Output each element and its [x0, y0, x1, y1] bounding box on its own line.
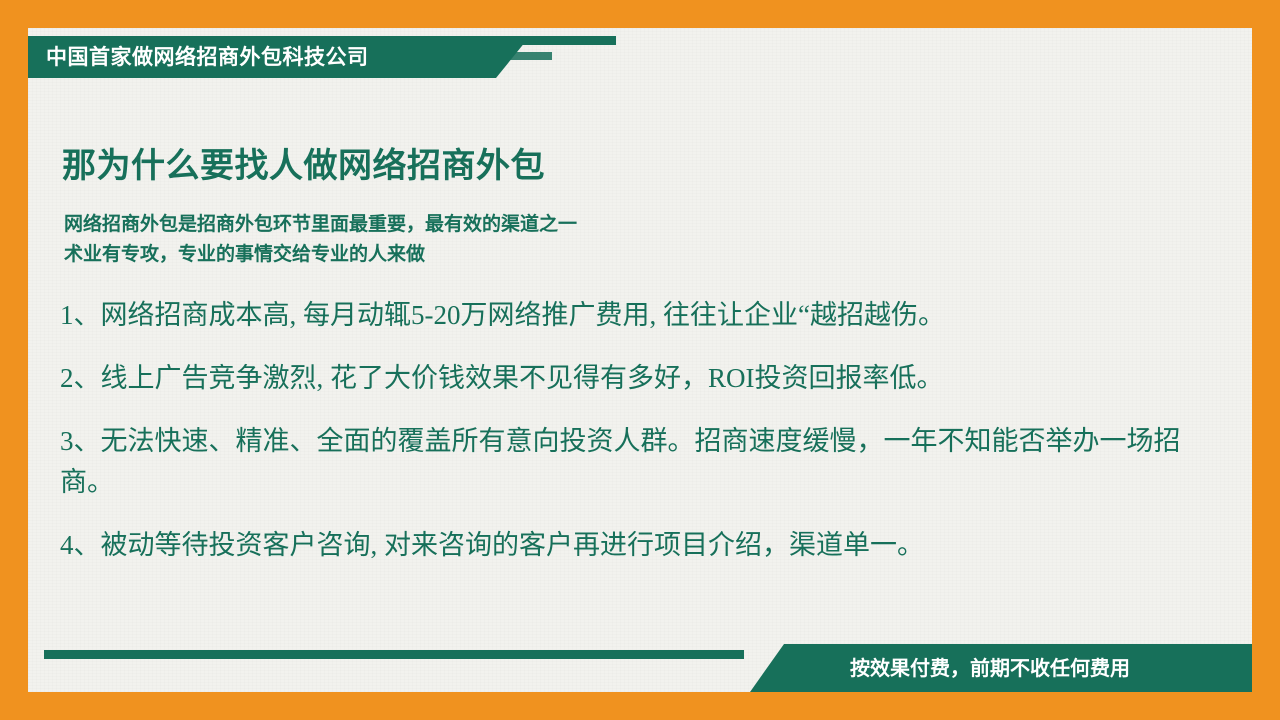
- header-accent-strip-secondary: [510, 52, 552, 60]
- header-accent-strip: [496, 36, 616, 45]
- list-item: 4、被动等待投资客户咨询, 对来咨询的客户再进行项目介绍，渠道单一。: [60, 525, 1190, 566]
- subtitle-line-1: 网络招商外包是招商外包环节里面最重要，最有效的渠道之一: [64, 210, 577, 240]
- page-title: 那为什么要找人做网络招商外包: [62, 138, 545, 187]
- footer-accent-strip: [44, 650, 744, 659]
- bullet-list: 1、网络招商成本高, 每月动辄5-20万网络推广费用, 往往让企业“越招越伤。 …: [60, 295, 1190, 588]
- footer-text: 按效果付费，前期不收任何费用: [850, 654, 1250, 684]
- subtitle-block: 网络招商外包是招商外包环节里面最重要，最有效的渠道之一 术业有专攻，专业的事情交…: [64, 210, 577, 270]
- list-item: 2、线上广告竞争激烈, 花了大价钱效果不见得有多好，ROI投资回报率低。: [60, 358, 1190, 399]
- subtitle-line-2: 术业有专攻，专业的事情交给专业的人来做: [64, 240, 577, 270]
- list-item: 1、网络招商成本高, 每月动辄5-20万网络推广费用, 往往让企业“越招越伤。: [60, 295, 1190, 336]
- footer-bar-notch: [750, 644, 784, 692]
- header-title: 中国首家做网络招商外包科技公司: [46, 44, 486, 72]
- list-item: 3、无法快速、精准、全面的覆盖所有意向投资人群。招商速度缓慢，一年不知能否举办一…: [60, 421, 1190, 503]
- slide-root: 中国首家做网络招商外包科技公司 那为什么要找人做网络招商外包 网络招商外包是招商…: [0, 0, 1280, 720]
